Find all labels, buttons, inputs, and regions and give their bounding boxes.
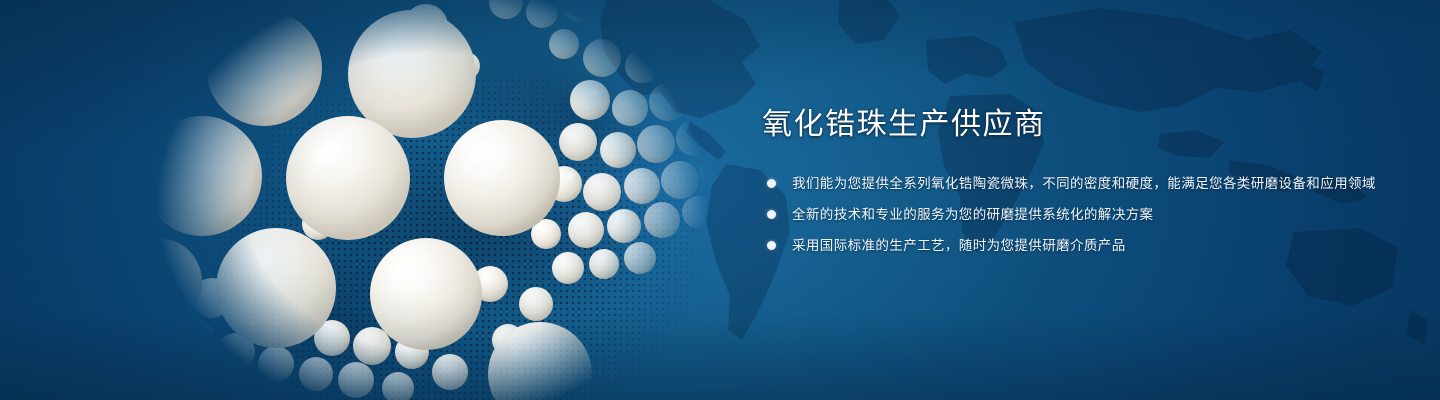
bullet-dot-icon bbox=[767, 179, 776, 188]
list-item: 全新的技术和专业的服务为您的研磨提供系统化的解决方案 bbox=[762, 203, 1382, 226]
banner-title: 氧化锆珠生产供应商 bbox=[762, 106, 1382, 144]
banner-text-block: 氧化锆珠生产供应商 我们能为您提供全系列氧化锆陶瓷微珠，不同的密度和硬度，能满足… bbox=[762, 106, 1382, 257]
banner-feature-list: 我们能为您提供全系列氧化锆陶瓷微珠，不同的密度和硬度，能满足您各类研磨设备和应用… bbox=[762, 172, 1382, 257]
feature-text: 全新的技术和专业的服务为您的研磨提供系统化的解决方案 bbox=[792, 207, 1153, 222]
list-item: 采用国际标准的生产工艺，随时为您提供研磨介质产品 bbox=[762, 234, 1382, 257]
feature-text: 采用国际标准的生产工艺，随时为您提供研磨介质产品 bbox=[792, 238, 1126, 253]
hero-banner: 氧化锆珠生产供应商 我们能为您提供全系列氧化锆陶瓷微珠，不同的密度和硬度，能满足… bbox=[0, 0, 1440, 400]
list-item: 我们能为您提供全系列氧化锆陶瓷微珠，不同的密度和硬度，能满足您各类研磨设备和应用… bbox=[762, 172, 1382, 195]
feature-text: 我们能为您提供全系列氧化锆陶瓷微珠，不同的密度和硬度，能满足您各类研磨设备和应用… bbox=[792, 176, 1376, 191]
bullet-dot-icon bbox=[767, 241, 776, 250]
bullet-dot-icon bbox=[767, 210, 776, 219]
